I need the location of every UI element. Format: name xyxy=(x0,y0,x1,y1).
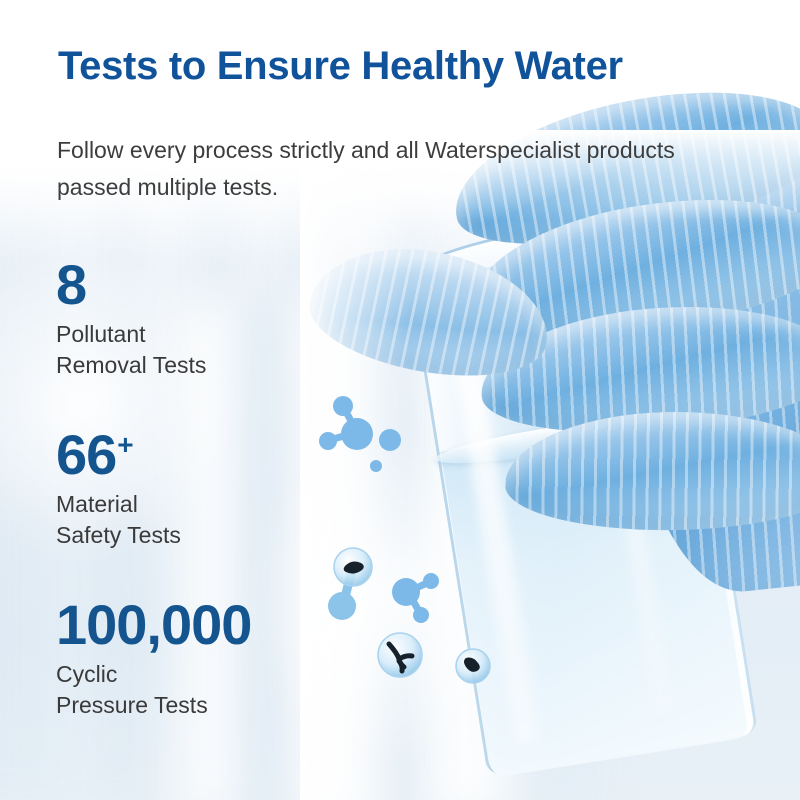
stat-label: Cyclic Pressure Tests xyxy=(56,659,252,721)
page-title: Tests to Ensure Healthy Water xyxy=(58,44,623,89)
stat-number: 100,000 xyxy=(56,593,251,656)
stat-block-cyclic-pressure: 100,000 Cyclic Pressure Tests xyxy=(56,598,252,721)
stat-value: 66+ xyxy=(56,428,181,481)
lab-photo xyxy=(330,140,800,800)
stat-label-line2: Removal Tests xyxy=(56,350,206,381)
stat-label: Material Safety Tests xyxy=(56,489,181,551)
stat-value: 8 xyxy=(56,258,206,311)
stat-number: 8 xyxy=(56,253,86,316)
stat-label: Pollutant Removal Tests xyxy=(56,319,206,381)
stat-label-line2: Safety Tests xyxy=(56,520,181,551)
stat-label-line1: Pollutant xyxy=(56,319,206,350)
stat-label-line1: Cyclic xyxy=(56,659,252,690)
stat-label-line1: Material xyxy=(56,489,181,520)
stat-number: 66 xyxy=(56,423,116,486)
stat-label-line2: Pressure Tests xyxy=(56,690,252,721)
photo-left-fade xyxy=(300,140,410,800)
stat-suffix: + xyxy=(117,429,132,460)
page-subtitle: Follow every process strictly and all Wa… xyxy=(57,132,697,206)
stat-block-pollutant-removal: 8 Pollutant Removal Tests xyxy=(56,258,206,381)
stat-value: 100,000 xyxy=(56,598,252,651)
stat-block-material-safety: 66+ Material Safety Tests xyxy=(56,428,181,551)
poster-root: Tests to Ensure Healthy Water Follow eve… xyxy=(0,0,800,800)
